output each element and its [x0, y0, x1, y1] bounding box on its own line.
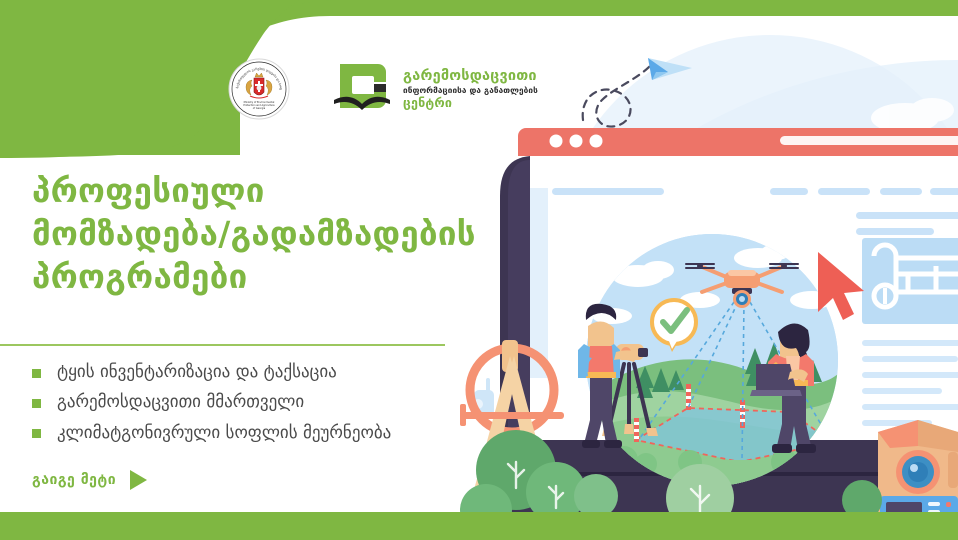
blueprint-icon: [862, 238, 958, 324]
title-line-2: მომზადება/გადამზადების: [32, 213, 470, 256]
eic-logo-line1: გარემოსდაცვითი: [403, 69, 538, 84]
title-line-1: პროფესიული: [32, 170, 470, 213]
bullet-square-icon: [32, 369, 41, 378]
learn-more-button[interactable]: გაიგე მეტი: [32, 470, 147, 490]
list-item-label: კლიმატგონივრული სოფლის მეურნეობა: [57, 423, 391, 443]
browser-dot: [550, 135, 563, 148]
play-triangle-icon: [130, 470, 147, 490]
eic-open-book-mark-icon: [332, 58, 394, 120]
list-item-label: გარემოსდაცვითი მმართველი: [57, 392, 304, 412]
title-divider: [0, 344, 445, 346]
header-logos: საქართველოს გარემოს დაცვისა და სოფლის Mi…: [228, 58, 538, 120]
list-item: ტყის ინვენტარიზაცია და ტაქსაცია: [32, 362, 472, 382]
banner-stage: საქართველოს გარემოს დაცვისა და სოფლის Mi…: [0, 0, 958, 540]
svg-text:of Georgia: of Georgia: [253, 107, 266, 110]
eic-logo-line3: ცენტრი: [403, 97, 538, 110]
eic-logo-line2: ინფორმაციისა და განათლების: [403, 86, 538, 94]
learn-more-label: გაიგე მეტი: [32, 472, 116, 488]
browser-dot: [570, 135, 583, 148]
left-content-panel: პროფესიული მომზადება/გადამზადების პროგრა…: [0, 170, 470, 500]
program-list: ტყის ინვენტარიზაცია და ტაქსაცია გარემოსდ…: [32, 362, 472, 453]
title-line-3: პროგრამები: [32, 256, 470, 299]
list-item: კლიმატგონივრული სოფლის მეურნეობა: [32, 423, 472, 443]
eic-logo: გარემოსდაცვითი ინფორმაციისა და განათლები…: [332, 58, 538, 120]
list-item: გარემოსდაცვითი მმართველი: [32, 392, 472, 412]
page-title: პროფესიული მომზადება/გადამზადების პროგრა…: [0, 170, 470, 299]
list-item-label: ტყის ინვენტარიზაცია და ტაქსაცია: [57, 362, 337, 382]
browser-dot: [590, 135, 603, 148]
bullet-square-icon: [32, 399, 41, 408]
bullet-square-icon: [32, 429, 41, 438]
bottom-green-bar: [0, 512, 958, 540]
georgia-coat-of-arms-icon: საქართველოს გარემოს დაცვისა და სოფლის Mi…: [228, 58, 290, 120]
